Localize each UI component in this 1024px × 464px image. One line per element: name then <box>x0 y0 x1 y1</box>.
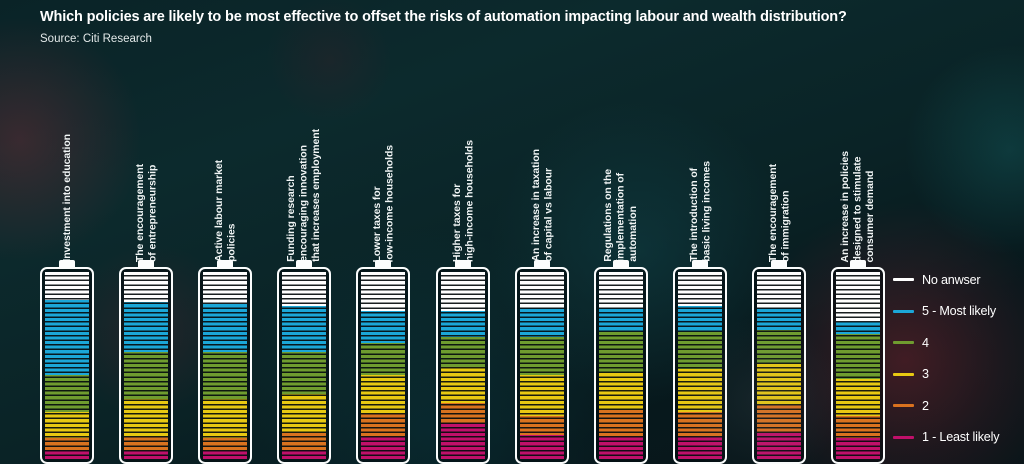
battery-column-label-text: The encouragement of entrepreneurship <box>134 164 159 262</box>
battery-fill <box>757 272 801 459</box>
battery-segment-r3 <box>282 394 326 433</box>
battery-fill <box>520 272 564 459</box>
battery-body <box>752 267 806 464</box>
battery-column-label: The introduction of basic living incomes <box>664 74 736 262</box>
battery-fill <box>599 272 643 459</box>
battery-segment-r3 <box>361 375 405 414</box>
battery-column-label: Regulations on the implementation of aut… <box>585 74 657 262</box>
battery-segment-r5 <box>757 308 801 330</box>
source-label: Source: Citi Research <box>40 33 1000 45</box>
battery-column-label-text: Lower taxes for low-income households <box>371 145 396 263</box>
legend-item: 1 - Least likely <box>893 422 1024 454</box>
legend: No anwser5 - Most likely4321 - Least lik… <box>893 264 1024 453</box>
battery-segment-r1 <box>836 438 880 459</box>
battery-segment-r5 <box>836 322 880 333</box>
battery-column: Investment into education <box>40 74 94 464</box>
battery-segment-r5 <box>441 311 485 337</box>
battery-segment-r5 <box>282 306 326 353</box>
battery-segment-r2 <box>678 412 722 436</box>
legend-swatch-r1 <box>893 436 914 439</box>
legend-swatch-r3 <box>893 373 914 376</box>
battery-segment-r1 <box>599 437 643 459</box>
legend-label: 1 - Least likely <box>922 430 999 444</box>
battery-segment-r5 <box>124 302 168 352</box>
battery-body <box>356 267 410 464</box>
battery-segment-r1 <box>361 437 405 459</box>
legend-item: 5 - Most likely <box>893 296 1024 328</box>
battery-segment-r1 <box>757 433 801 459</box>
battery-segment-r4 <box>836 334 880 379</box>
battery-segment-r3 <box>45 412 89 438</box>
battery-segment-r2 <box>836 416 880 438</box>
battery-fill <box>282 272 326 459</box>
battery-column: The encouragement of immigration <box>752 74 806 464</box>
battery-segment-r3 <box>203 399 247 438</box>
battery-column-label-text: The introduction of basic living incomes <box>688 161 713 262</box>
battery-segment-no_answer <box>836 272 880 322</box>
battery-column-label: Funding research encouraging innovation … <box>268 74 340 262</box>
battery-column-label-text: An increase in policies designed to stim… <box>839 151 876 263</box>
battery-fill <box>203 272 247 459</box>
battery-segment-r2 <box>520 416 564 435</box>
battery-segment-r4 <box>599 332 643 373</box>
battery-segment-no_answer <box>757 272 801 308</box>
battery-segment-r2 <box>599 410 643 436</box>
battery-segment-r3 <box>441 367 485 403</box>
battery-column-label-text: Regulations on the implementation of aut… <box>602 169 639 262</box>
battery-segment-r4 <box>441 337 485 367</box>
legend-item: 4 <box>893 327 1024 359</box>
battery-column-label-text: Funding research encouraging innovation … <box>285 129 322 262</box>
legend-swatch-r4 <box>893 341 914 344</box>
legend-item: No anwser <box>893 264 1024 296</box>
battery-segment-r4 <box>520 337 564 374</box>
battery-segment-r3 <box>124 399 168 436</box>
battery-column-label: Active labour market policies <box>189 74 261 262</box>
battery-segment-r1 <box>520 435 564 459</box>
battery-fill <box>361 272 405 459</box>
battery-segment-r4 <box>203 352 247 399</box>
battery-column: An increase in taxation of capital vs la… <box>515 74 569 464</box>
battery-column-label: Investment into education <box>31 74 103 262</box>
legend-label: 3 <box>922 367 929 381</box>
battery-segment-no_answer <box>599 272 643 308</box>
battery-column-label: Higher taxes for high-income households <box>427 74 499 262</box>
battery-column: Regulations on the implementation of aut… <box>594 74 648 464</box>
legend-item: 2 <box>893 390 1024 422</box>
battery-body <box>198 267 252 464</box>
battery-segment-r4 <box>361 343 405 375</box>
legend-item: 3 <box>893 359 1024 391</box>
battery-fill <box>441 272 485 459</box>
battery-body <box>119 267 173 464</box>
battery-segment-r4 <box>757 330 801 364</box>
battery-fill <box>124 272 168 459</box>
legend-swatch-r2 <box>893 404 914 407</box>
legend-label: 5 - Most likely <box>922 304 996 318</box>
battery-column: Funding research encouraging innovation … <box>277 74 331 464</box>
battery-segment-r3 <box>599 373 643 410</box>
battery-column: Active labour market policies <box>198 74 252 464</box>
battery-segment-r3 <box>836 379 880 416</box>
battery-segment-r2 <box>203 438 247 451</box>
battery-body <box>594 267 648 464</box>
battery-segment-r3 <box>757 364 801 405</box>
battery-segment-no_answer <box>282 272 326 306</box>
battery-segment-r4 <box>124 352 168 399</box>
battery-segment-r4 <box>282 352 326 393</box>
battery-segment-r4 <box>45 375 89 412</box>
battery-body <box>40 267 94 464</box>
battery-column: Higher taxes for high-income households <box>436 74 490 464</box>
battery-column-label: Lower taxes for low-income households <box>347 74 419 262</box>
battery-segment-r1 <box>45 450 89 459</box>
battery-segment-r1 <box>282 450 326 459</box>
battery-column-label: An increase in taxation of capital vs la… <box>506 74 578 262</box>
battery-body <box>673 267 727 464</box>
battery-segment-no_answer <box>45 272 89 300</box>
battery-segment-r3 <box>520 375 564 416</box>
battery-segment-no_answer <box>441 272 485 311</box>
legend-label: 4 <box>922 336 929 350</box>
battery-segment-r2 <box>441 403 485 424</box>
battery-column-label-text: The encouragement of immigration <box>767 164 792 262</box>
battery-chart: Investment into educationThe encourageme… <box>0 0 1024 464</box>
battery-segment-no_answer <box>124 272 168 302</box>
battery-segment-r2 <box>757 405 801 433</box>
battery-column: The encouragement of entrepreneurship <box>119 74 173 464</box>
battery-fill <box>678 272 722 459</box>
battery-body <box>515 267 569 464</box>
battery-segment-r4 <box>678 332 722 369</box>
battery-segment-r2 <box>124 437 168 452</box>
battery-column-label: The encouragement of entrepreneurship <box>110 74 182 262</box>
battery-segment-r5 <box>678 306 722 332</box>
battery-segment-r5 <box>45 300 89 375</box>
battery-column: An increase in policies designed to stim… <box>831 74 885 464</box>
battery-segment-r1 <box>203 451 247 458</box>
battery-segment-r1 <box>124 451 168 458</box>
header: Which policies are likely to be most eff… <box>40 8 1000 45</box>
battery-segment-r5 <box>203 304 247 353</box>
page-title: Which policies are likely to be most eff… <box>40 8 1000 26</box>
battery-segment-r3 <box>678 369 722 412</box>
battery-column: The introduction of basic living incomes <box>673 74 727 464</box>
battery-segment-r2 <box>282 433 326 450</box>
battery-segment-no_answer <box>361 272 405 311</box>
battery-fill <box>45 272 89 459</box>
battery-fill <box>836 272 880 459</box>
battery-column-label: The encouragement of immigration <box>743 74 815 262</box>
battery-segment-r1 <box>441 423 485 459</box>
battery-segment-r2 <box>45 438 89 449</box>
infographic-canvas: Which policies are likely to be most eff… <box>0 0 1024 464</box>
battery-column-label-text: An increase in taxation of capital vs la… <box>530 149 555 262</box>
battery-body <box>831 267 885 464</box>
battery-segment-r2 <box>361 414 405 436</box>
battery-segment-r5 <box>361 311 405 343</box>
legend-swatch-no_answer <box>893 278 914 281</box>
battery-body <box>277 267 331 464</box>
battery-segment-r5 <box>520 308 564 338</box>
battery-column: Lower taxes for low-income households <box>356 74 410 464</box>
battery-column-label: An increase in policies designed to stim… <box>822 74 894 262</box>
battery-segment-no_answer <box>520 272 564 308</box>
legend-swatch-r5 <box>893 310 914 313</box>
battery-column-label-text: Investment into education <box>61 134 73 262</box>
battery-column-label-text: Active labour market policies <box>213 160 238 262</box>
battery-segment-no_answer <box>678 272 722 306</box>
battery-segment-no_answer <box>203 272 247 304</box>
legend-label: 2 <box>922 399 929 413</box>
legend-label: No anwser <box>922 273 980 287</box>
battery-segment-r1 <box>678 437 722 459</box>
battery-body <box>436 267 490 464</box>
battery-segment-r5 <box>599 308 643 332</box>
battery-column-label-text: Higher taxes for high-income households <box>451 140 476 262</box>
